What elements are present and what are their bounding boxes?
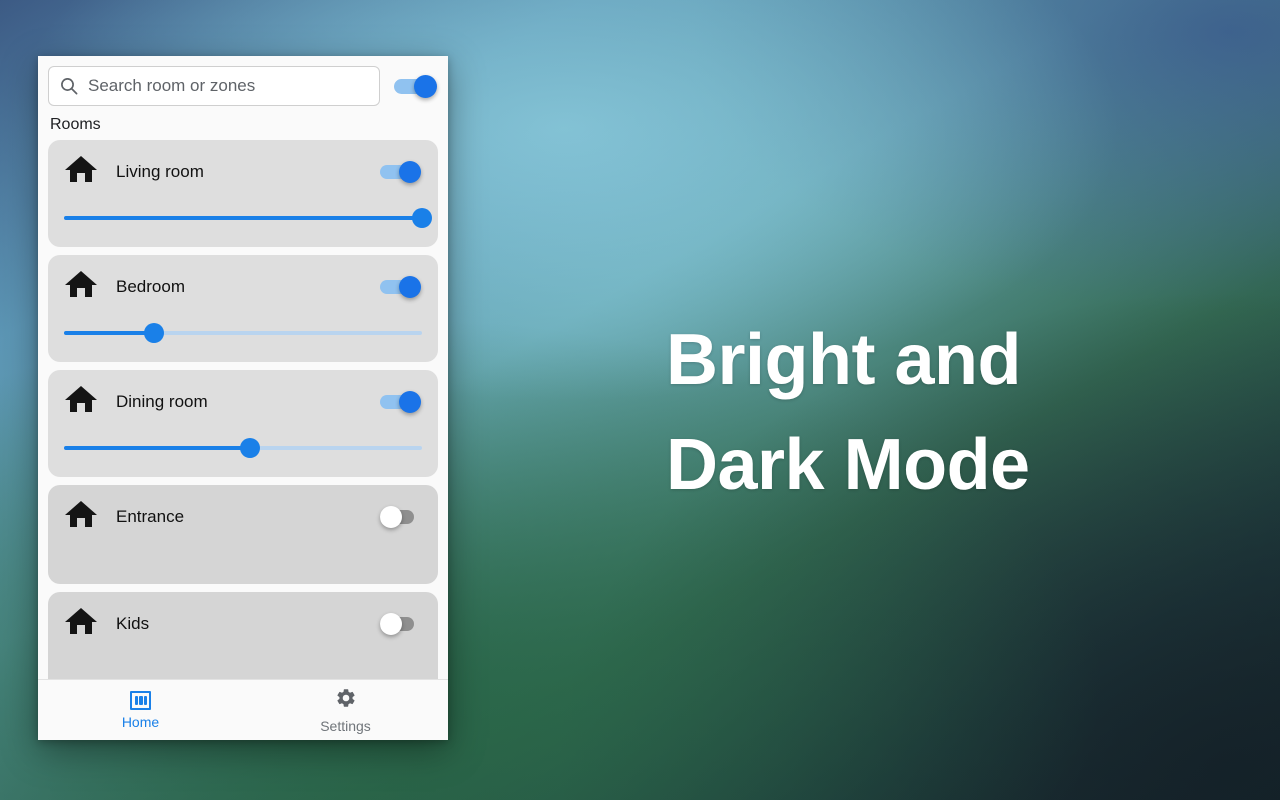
- nav-item-label: Home: [122, 714, 159, 730]
- room-header: Kids: [64, 606, 422, 641]
- app-window: Rooms Living room: [38, 56, 448, 740]
- house-icon: [64, 606, 98, 641]
- bottom-navigation: Home Settings: [38, 679, 448, 740]
- room-header: Living room: [64, 154, 422, 189]
- nav-item-label: Settings: [320, 718, 371, 734]
- toggle-knob: [414, 75, 437, 98]
- room-header: Dining room: [64, 384, 422, 419]
- room-card-kids[interactable]: Kids: [48, 592, 438, 679]
- gear-icon: [335, 687, 357, 714]
- room-toggle-switch[interactable]: [380, 158, 422, 186]
- section-label-rooms: Rooms: [38, 106, 448, 140]
- brightness-slider[interactable]: [64, 435, 422, 461]
- room-name: Living room: [116, 162, 362, 182]
- room-list[interactable]: Living room: [38, 140, 448, 679]
- room-header: Entrance: [64, 499, 422, 534]
- slider-fill: [64, 216, 422, 220]
- search-row: [38, 56, 448, 106]
- toggle-knob: [380, 613, 402, 635]
- slider-thumb[interactable]: [412, 208, 432, 228]
- slider-fill: [64, 331, 154, 335]
- brightness-slider[interactable]: [64, 205, 422, 231]
- room-card-bedroom[interactable]: Bedroom: [48, 255, 438, 362]
- nav-item-settings[interactable]: Settings: [243, 687, 448, 734]
- slider-thumb[interactable]: [144, 323, 164, 343]
- search-box[interactable]: [48, 66, 380, 106]
- master-toggle-switch[interactable]: [394, 71, 438, 101]
- search-input[interactable]: [88, 76, 369, 96]
- slider-fill: [64, 446, 250, 450]
- toggle-knob: [399, 276, 421, 298]
- house-icon: [64, 154, 98, 189]
- house-icon: [64, 499, 98, 534]
- toggle-knob: [399, 161, 421, 183]
- room-card-entrance[interactable]: Entrance: [48, 485, 438, 584]
- desktop-wallpaper: Bright and Dark Mode Rooms: [0, 0, 1280, 800]
- room-header: Bedroom: [64, 269, 422, 304]
- house-icon: [64, 384, 98, 419]
- room-toggle-switch[interactable]: [380, 273, 422, 301]
- headline-line-2: Dark Mode: [666, 413, 1186, 518]
- room-name: Entrance: [116, 507, 362, 527]
- room-name: Bedroom: [116, 277, 362, 297]
- headline-line-1: Bright and: [666, 308, 1186, 413]
- room-card-living-room[interactable]: Living room: [48, 140, 438, 247]
- nav-item-home[interactable]: Home: [38, 691, 243, 730]
- room-name: Dining room: [116, 392, 362, 412]
- headline: Bright and Dark Mode: [666, 308, 1186, 518]
- search-icon: [59, 76, 79, 96]
- toggle-knob: [380, 506, 402, 528]
- house-icon: [64, 269, 98, 304]
- brightness-slider[interactable]: [64, 320, 422, 346]
- room-card-dining-room[interactable]: Dining room: [48, 370, 438, 477]
- tofu-box-icon: [130, 691, 151, 710]
- room-toggle-switch[interactable]: [380, 610, 422, 638]
- room-toggle-switch[interactable]: [380, 503, 422, 531]
- slider-thumb[interactable]: [240, 438, 260, 458]
- toggle-knob: [399, 391, 421, 413]
- room-name: Kids: [116, 614, 362, 634]
- room-toggle-switch[interactable]: [380, 388, 422, 416]
